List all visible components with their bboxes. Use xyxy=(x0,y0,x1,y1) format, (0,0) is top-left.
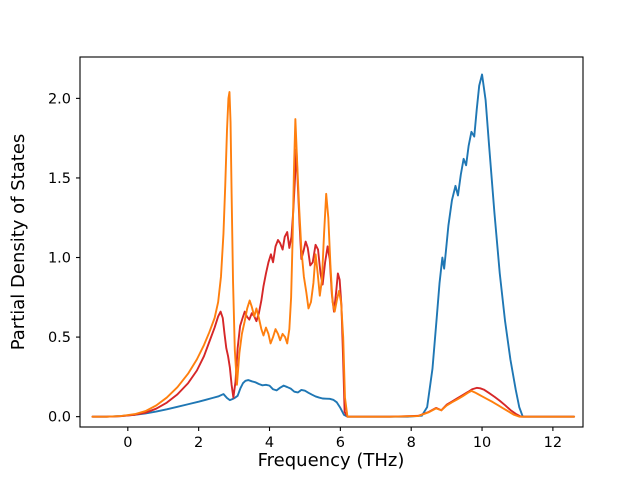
y-tick-label: 2.0 xyxy=(48,91,71,107)
x-axis-ticks: 024681012 xyxy=(123,427,562,451)
x-tick-label: 4 xyxy=(265,435,274,451)
x-tick-label: 12 xyxy=(544,435,562,451)
plot-svg: 024681012 0.00.51.01.52.0 Frequency (THz… xyxy=(0,0,640,480)
plot-area: 024681012 0.00.51.01.52.0 Frequency (THz… xyxy=(8,57,583,471)
x-axis-title: Frequency (THz) xyxy=(258,450,405,471)
x-tick-label: 2 xyxy=(194,435,203,451)
plot-background xyxy=(80,57,583,427)
x-tick-label: 0 xyxy=(123,435,132,451)
y-axis-title: Partial Density of States xyxy=(8,134,29,351)
y-tick-label: 1.5 xyxy=(48,171,71,187)
y-tick-label: 0.0 xyxy=(48,410,71,426)
y-tick-label: 1.0 xyxy=(48,251,71,267)
figure-canvas: 024681012 0.00.51.01.52.0 Frequency (THz… xyxy=(0,0,640,480)
y-axis-ticks: 0.00.51.01.52.0 xyxy=(48,91,80,425)
y-tick-label: 0.5 xyxy=(48,330,71,346)
x-tick-label: 8 xyxy=(407,435,416,451)
x-tick-label: 6 xyxy=(336,435,345,451)
x-tick-label: 10 xyxy=(473,435,491,451)
